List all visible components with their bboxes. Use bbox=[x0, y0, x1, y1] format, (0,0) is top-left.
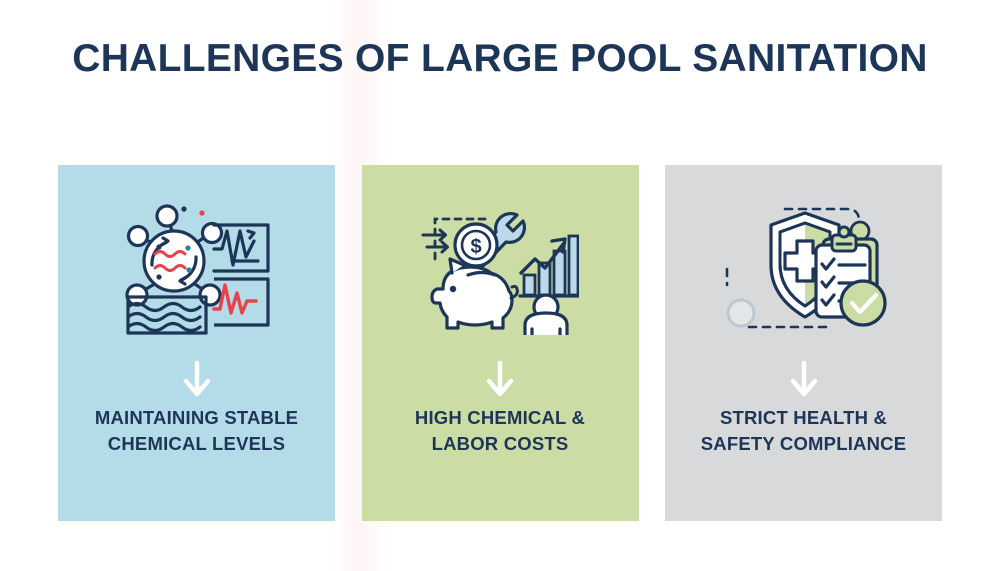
card-maintaining-stable-chemical-levels[interactable]: MAINTAINING STABLE CHEMICAL LEVELS bbox=[58, 165, 335, 521]
card-label-line-1: HIGH CHEMICAL & bbox=[372, 405, 629, 431]
page-title: CHALLENGES OF LARGE POOL SANITATION bbox=[0, 36, 1000, 82]
infographic-page: CHALLENGES OF LARGE POOL SANITATION bbox=[0, 0, 1000, 571]
card-label-line-2: CHEMICAL LEVELS bbox=[68, 431, 325, 457]
card-label-line-2: LABOR COSTS bbox=[372, 431, 629, 457]
card-strict-health-safety-compliance[interactable]: STRICT HEALTH & SAFETY COMPLIANCE bbox=[665, 165, 942, 521]
card-label-line-2: SAFETY COMPLIANCE bbox=[675, 431, 932, 457]
page-title-line-1: CHALLENGES OF LARGE POOL bbox=[72, 37, 681, 80]
down-arrow-icon bbox=[665, 357, 942, 401]
compliance-shield-icon bbox=[665, 199, 942, 339]
chemical-monitoring-icon bbox=[58, 199, 335, 339]
page-title-line-2: SANITATION bbox=[692, 37, 928, 80]
card-label: STRICT HEALTH & SAFETY COMPLIANCE bbox=[675, 405, 932, 457]
cost-increase-icon: $ bbox=[362, 199, 639, 339]
down-arrow-icon bbox=[58, 357, 335, 401]
card-label-line-1: MAINTAINING STABLE bbox=[68, 405, 325, 431]
svg-text:$: $ bbox=[470, 236, 481, 258]
challenge-cards: MAINTAINING STABLE CHEMICAL LEVELS bbox=[58, 165, 942, 521]
down-arrow-icon bbox=[362, 357, 639, 401]
card-label: MAINTAINING STABLE CHEMICAL LEVELS bbox=[68, 405, 325, 457]
card-label-line-1: STRICT HEALTH & bbox=[675, 405, 932, 431]
card-high-chemical-labor-costs[interactable]: $ bbox=[362, 165, 639, 521]
card-label: HIGH CHEMICAL & LABOR COSTS bbox=[372, 405, 629, 457]
